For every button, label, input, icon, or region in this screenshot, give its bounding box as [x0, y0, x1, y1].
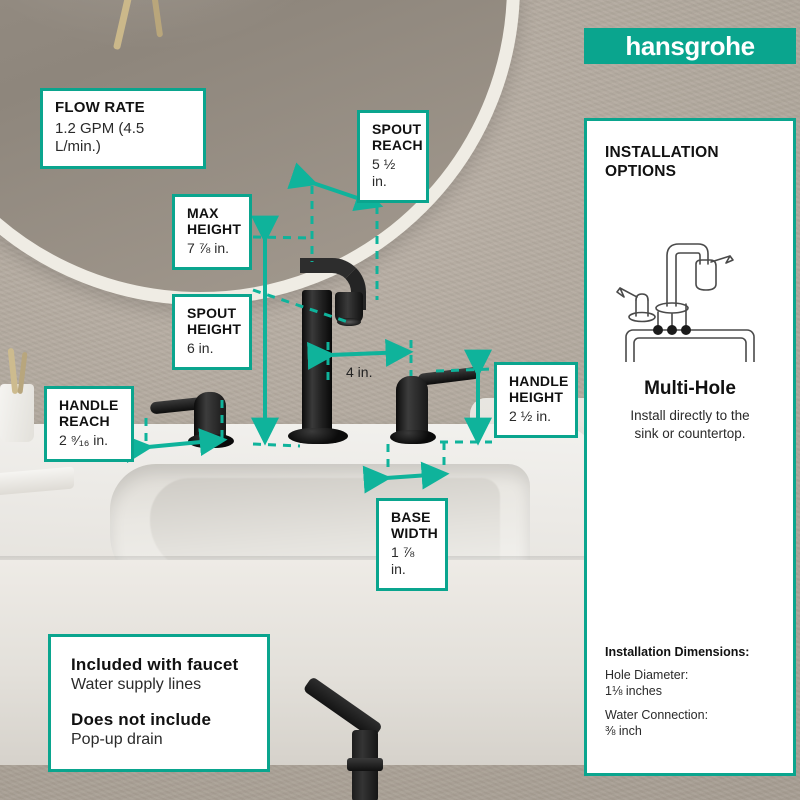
product-spec-sheet: 4 in. FLOW RATE 1.2 GPM (4.5 L/min.) SPO…: [0, 0, 800, 800]
spout-reach-title-line2: REACH: [372, 138, 414, 154]
included-value: Water supply lines: [71, 675, 247, 694]
callout-base-width: BASE WIDTH 1 ⅞ in.: [376, 498, 448, 591]
faucet-spout-base: [288, 428, 348, 444]
spout-height-title-line1: SPOUT: [187, 306, 237, 322]
callout-flow-rate: FLOW RATE 1.2 GPM (4.5 L/min.): [40, 88, 206, 169]
hole-diameter-value: 1⅛ inches: [605, 683, 775, 699]
faucet-aerator: [337, 318, 361, 326]
handle-reach-value: 2 ⁹⁄₁₆ in.: [59, 432, 119, 449]
callout-handle-height: HANDLE HEIGHT 2 ½ in.: [494, 362, 578, 438]
multi-hole-icon-wrapper: [605, 234, 775, 362]
included-title: Included with faucet: [71, 655, 247, 674]
water-connection-label: Water Connection:: [605, 707, 775, 723]
installation-option-desc-line1: Install directly to the: [630, 408, 749, 423]
water-connection-value: ⅜ inch: [605, 723, 775, 739]
base-width-value: 1 ⅞ in.: [391, 544, 433, 578]
flow-rate-value: 1.2 GPM (4.5 L/min.): [55, 120, 191, 156]
handle-height-value: 2 ½ in.: [509, 408, 563, 425]
panel-heading-line2: OPTIONS: [605, 163, 676, 180]
center-dimension-label: 4 in.: [346, 364, 372, 380]
spout-reach-title-line1: SPOUT: [372, 122, 414, 138]
mirror-gloss: [0, 0, 363, 52]
callout-handle-reach: HANDLE REACH 2 ⁹⁄₁₆ in.: [44, 386, 134, 462]
spout-height-value: 6 in.: [187, 340, 237, 357]
drain-pipe-collar: [347, 758, 383, 771]
spout-reach-value: 5 ½ in.: [372, 156, 414, 190]
installation-option-desc-line2: sink or countertop.: [634, 426, 745, 441]
flow-rate-title: FLOW RATE: [55, 100, 191, 117]
left-handle-base: [188, 434, 234, 448]
max-height-title-line1: MAX: [187, 206, 237, 222]
hole-diameter-label: Hole Diameter:: [605, 667, 775, 683]
base-width-title-line2: WIDTH: [391, 526, 433, 542]
spout-height-title-line2: HEIGHT: [187, 322, 237, 338]
faucet-spout-column: [302, 290, 332, 438]
callout-max-height: MAX HEIGHT 7 ⅞ in.: [172, 194, 252, 270]
max-height-value: 7 ⅞ in.: [187, 240, 237, 257]
handle-reach-title-line1: HANDLE: [59, 398, 119, 414]
hansgrohe-logo: hansgrohe: [584, 28, 796, 64]
excluded-title: Does not include: [71, 710, 247, 729]
installation-options-panel: INSTALLATION OPTIONS: [584, 118, 796, 776]
callout-spout-reach: SPOUT REACH 5 ½ in.: [357, 110, 429, 203]
panel-heading-line1: INSTALLATION: [605, 144, 719, 161]
base-width-title-line1: BASE: [391, 510, 433, 526]
excluded-value: Pop-up drain: [71, 730, 247, 749]
installation-dimensions-block: Installation Dimensions: Hole Diameter: …: [605, 645, 775, 739]
right-handle-base: [390, 430, 436, 444]
callout-included-with-faucet: Included with faucet Water supply lines …: [48, 634, 270, 772]
logo-text: hansgrohe: [625, 31, 754, 62]
right-handle-body: [396, 376, 428, 436]
handle-height-title-line2: HEIGHT: [509, 390, 563, 406]
handle-reach-title-line2: REACH: [59, 414, 119, 430]
max-height-title-line2: HEIGHT: [187, 222, 237, 238]
installation-option-title: Multi-Hole: [605, 378, 775, 400]
handle-height-title-line1: HANDLE: [509, 374, 563, 390]
installation-dimensions-heading: Installation Dimensions:: [605, 645, 775, 659]
callout-spout-height: SPOUT HEIGHT 6 in.: [172, 294, 252, 370]
multi-hole-faucet-icon: [612, 234, 768, 362]
